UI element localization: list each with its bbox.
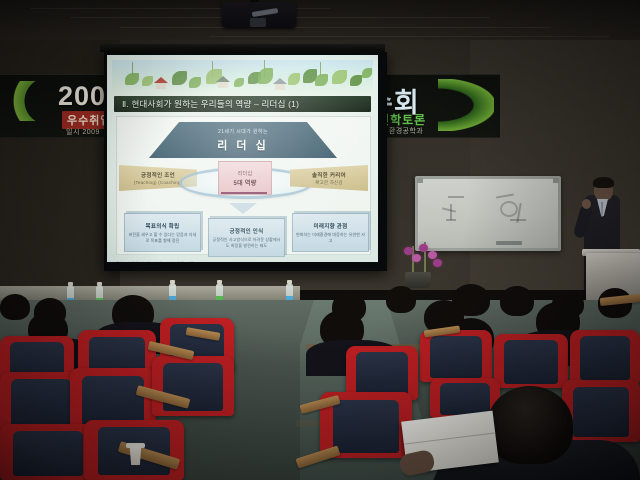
center-box-underline bbox=[221, 192, 267, 194]
auditorium-seat bbox=[494, 334, 568, 388]
auditorium-seat bbox=[420, 330, 492, 382]
presenter-hand bbox=[582, 199, 591, 209]
orchid-bloom bbox=[412, 254, 421, 262]
foreground-person-head bbox=[487, 386, 573, 464]
slide-diagram: 21세기 시대가 원하는 리 더 십 긍정적인 조언 (Teaching) (C… bbox=[116, 116, 371, 255]
auditorium-seat bbox=[152, 356, 234, 416]
banner-left-subtitle: 일시 2009 bbox=[66, 127, 100, 137]
slide-center-box: 리더십 5대 역량 bbox=[218, 161, 272, 195]
audience-head bbox=[386, 286, 416, 313]
side-panel-right-title: 솔직한 커리어 bbox=[312, 171, 346, 179]
side-panel-left-sub: (Teaching) (Coaching) bbox=[134, 180, 182, 185]
center-box-line2: 5대 역량 bbox=[233, 178, 256, 187]
side-panel-right-sub: 확고한 자신감 bbox=[315, 180, 343, 186]
auditorium-seat bbox=[562, 380, 640, 442]
trapezoid-main-title: 리 더 십 bbox=[217, 137, 268, 153]
orchid-pot bbox=[405, 272, 431, 288]
auditorium-seat bbox=[570, 330, 640, 384]
orchid-bloom bbox=[419, 244, 428, 252]
audience-head bbox=[0, 294, 30, 320]
side-panel-left-title: 긍정적인 조언 bbox=[141, 171, 175, 179]
presenter-hair bbox=[593, 177, 614, 188]
projector-glint bbox=[252, 8, 278, 17]
audience-head bbox=[500, 286, 534, 316]
slide-header-image bbox=[112, 60, 373, 95]
slide-box-1: 목표의식 확립 비전을 세우고 할 수 있다는 믿음과 자세로 목표를 향해 정… bbox=[124, 213, 201, 252]
banner-logo-left-icon bbox=[8, 81, 48, 121]
slide-box-1-title: 목표의식 확립 bbox=[146, 222, 180, 230]
trapezoid-subtitle: 21세기 시대가 원하는 bbox=[218, 128, 268, 135]
banner-year: 200 bbox=[58, 81, 106, 112]
slide-box-3-sub: 변화하는 미래환경에 대응하는 유연한 사고 bbox=[295, 232, 366, 244]
slide-title-bar: Ⅱ. 현대사회가 원하는 우리들의 역량 – 리더십 (1) bbox=[114, 96, 371, 112]
screen-roller bbox=[100, 44, 385, 52]
slide-box-2-title: 긍정적인 인식 bbox=[230, 227, 264, 235]
projector-icon bbox=[222, 2, 296, 28]
orchid-bloom bbox=[433, 259, 442, 267]
slide-title-text: Ⅱ. 현대사회가 원하는 우리들의 역량 – 리더십 (1) bbox=[114, 98, 299, 110]
orchid-bloom bbox=[428, 251, 437, 259]
slide-trapezoid-header: 21세기 시대가 원하는 리 더 십 bbox=[149, 122, 337, 158]
lecture-hall-photo: 200 우수취업 일시 2009 수회 강전학토론 대학교 환경공학과 bbox=[0, 0, 640, 480]
auditorium-seat bbox=[0, 424, 96, 480]
projection-screen: Ⅱ. 현대사회가 원하는 우리들의 역량 – 리더십 (1) 21세기 시대가 … bbox=[104, 52, 387, 271]
center-box-line1: 리더십 bbox=[238, 170, 253, 177]
slide-footer-text: 출처 : 한국직업능력개발원 리더십 역량 자료 bbox=[116, 261, 194, 262]
slide-box-3-title: 미래지향 관점 bbox=[314, 222, 348, 230]
slide-middle-zone: 긍정적인 조언 (Teaching) (Coaching) 리더십 5대 역량 … bbox=[117, 159, 370, 204]
slide-box-1-sub: 비전을 세우고 할 수 있다는 믿음과 자세로 목표를 향해 정진 bbox=[127, 232, 198, 244]
slide-footer: 출처 : 한국직업능력개발원 리더십 역량 자료 bbox=[116, 252, 369, 260]
projector-lens bbox=[250, 18, 266, 27]
slide-bottom-boxes: 목표의식 확립 비전을 세우고 할 수 있다는 믿음과 자세로 목표를 향해 정… bbox=[117, 213, 370, 253]
orchid-bloom bbox=[404, 247, 413, 255]
slide-box-3: 미래지향 관점 변화하는 미래환경에 대응하는 유연한 사고 bbox=[292, 213, 369, 252]
banner-logo-right-icon bbox=[438, 79, 494, 131]
presentation-slide: Ⅱ. 현대사회가 원하는 우리들의 역량 – 리더십 (1) 21세기 시대가 … bbox=[107, 55, 378, 262]
whiteboard-marker-tray bbox=[496, 241, 522, 245]
slide-box-2-sub: 긍정적인 사고방식으로 어려운 상황에서도 희망을 발견하는 태도 bbox=[211, 237, 282, 249]
whiteboard bbox=[415, 176, 561, 251]
